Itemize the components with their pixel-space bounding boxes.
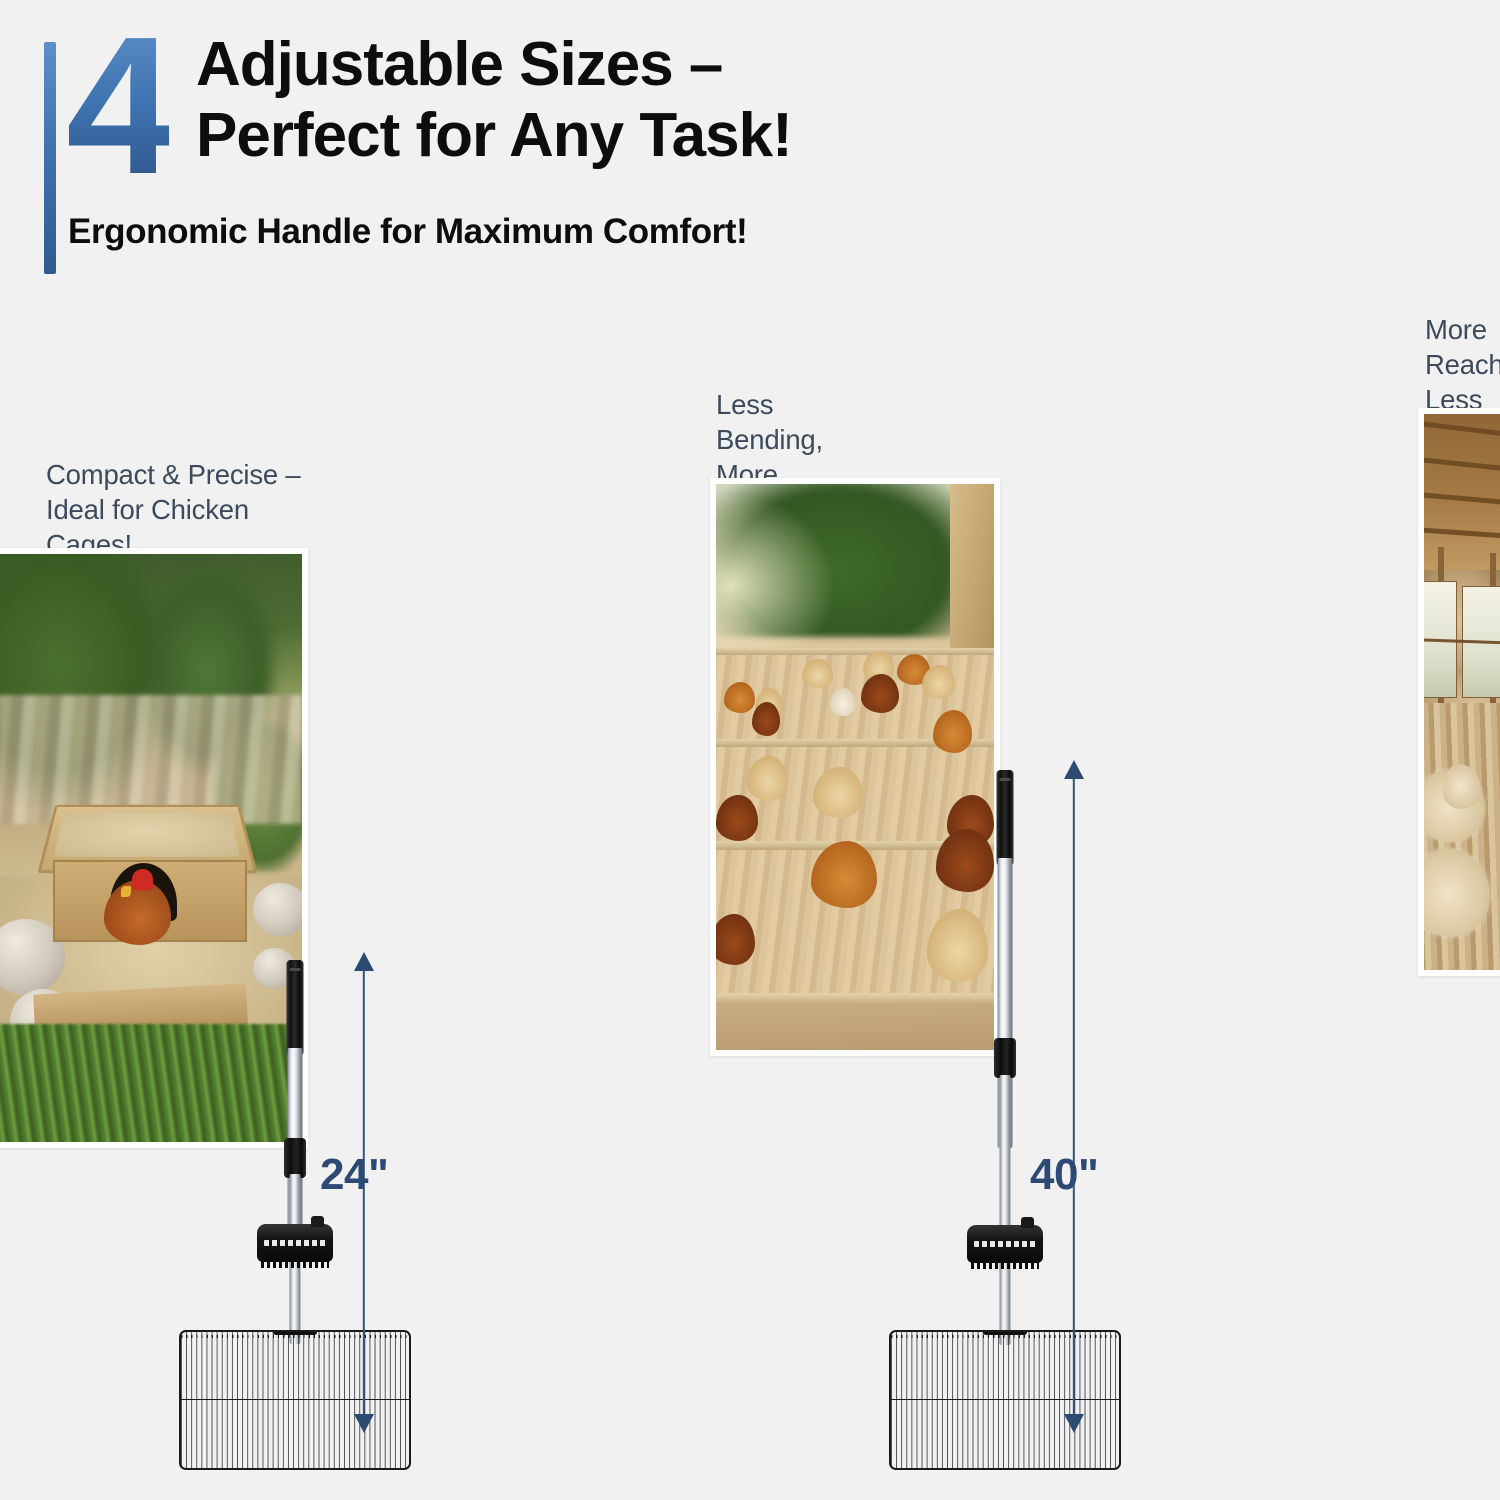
tool-lock-collar [284,1138,306,1178]
size-column-54: More Reach, Less Effort – Cover Larger A… [706,0,1058,1500]
tool-handle-grip [287,960,304,1056]
size-column-70: Maximum Reach – Clean Hard-to-Reach Area… [1060,0,1500,1500]
size-column-40: Less Bending, More Comfort – Perfect for… [352,0,712,1500]
size-column-24: Compact & Precise – Ideal for Chicken Ca… [0,0,360,1500]
